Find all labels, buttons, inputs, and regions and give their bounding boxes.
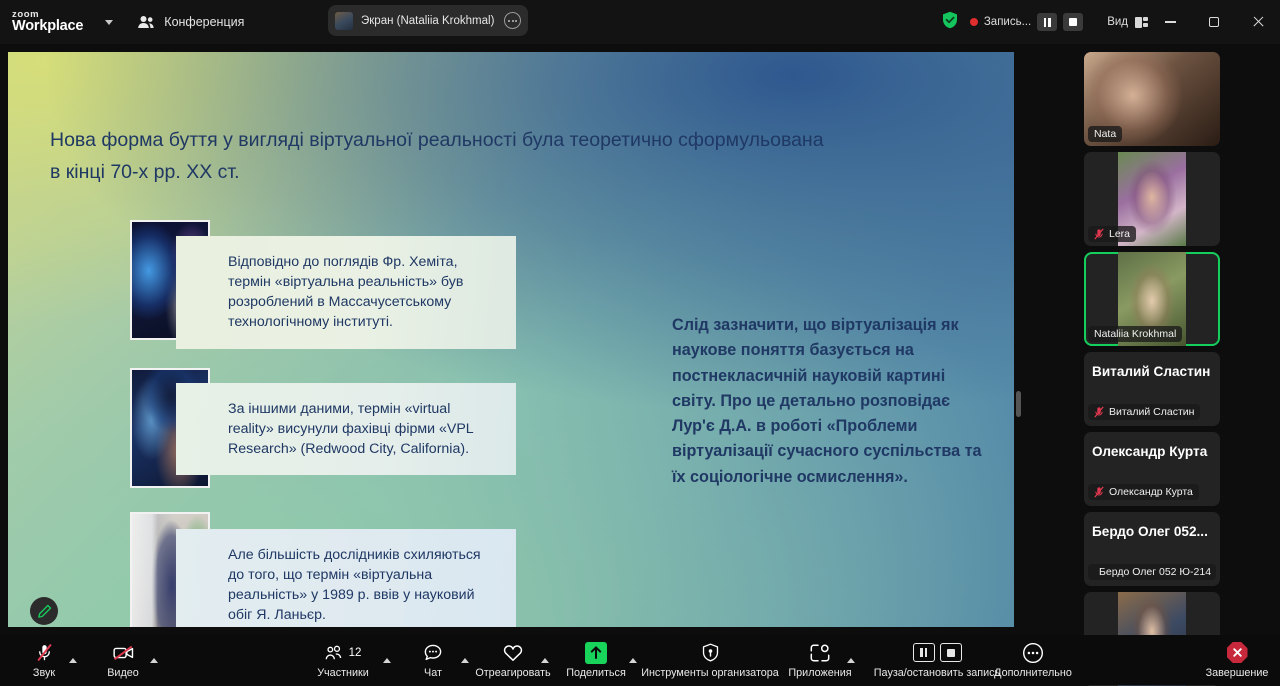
caret-up-icon	[541, 658, 549, 663]
participant-name-text: Виталий Сластин	[1109, 406, 1194, 418]
panel-resize-handle[interactable]	[1016, 391, 1021, 417]
meeting-stage: Нова форма буття у вигляді віртуальної р…	[0, 44, 1280, 635]
participants-count: 12	[349, 647, 362, 659]
toolbar-participants-button[interactable]: 12 Участники	[312, 635, 374, 685]
participant-name-text: Nata	[1094, 128, 1116, 140]
view-label: Вид	[1107, 16, 1128, 28]
toolbar-share-label: Поделиться	[566, 667, 626, 679]
slide-right-paragraph: Слід зазначити, що віртуалізація як наук…	[672, 313, 982, 490]
participant-name-text: Nataliia Krokhmal	[1094, 328, 1176, 340]
participant-name-text: Lera	[1109, 228, 1130, 240]
close-button[interactable]	[1236, 0, 1280, 44]
more-ellipsis-icon	[1022, 642, 1044, 664]
participant-tile-nataliia-krokhmal[interactable]: Nataliia Krokhmal	[1084, 252, 1220, 346]
pause-stop-record-icon	[913, 642, 962, 664]
share-thumbnail	[335, 12, 353, 30]
participant-tile-oleksandr-kurta[interactable]: Олександр Курта Олександр Курта	[1084, 432, 1220, 506]
pencil-icon	[37, 604, 52, 619]
participant-name-text: Олександр Курта	[1109, 486, 1193, 498]
participant-tile-nata[interactable]: Nata	[1084, 52, 1220, 146]
participant-initial-name: Бердо Олег 052...	[1092, 524, 1214, 539]
caret-up-icon	[383, 658, 391, 663]
zoom-workplace-logo: zoom Workplace	[12, 10, 83, 34]
people-icon	[137, 15, 155, 29]
recording-label: Запись...	[984, 16, 1031, 28]
participant-tile-lera[interactable]: Lera	[1084, 152, 1220, 246]
participant-name-label: Олександр Курта	[1088, 484, 1199, 500]
title-bar: zoom Workplace Конференция Экран (Natali…	[0, 0, 1280, 44]
end-meeting-icon	[1227, 642, 1248, 663]
restore-icon	[1209, 17, 1219, 27]
caret-up-icon	[629, 658, 637, 663]
workspace-switcher-button[interactable]	[105, 20, 113, 25]
toolbar-chat-button[interactable]: Чат	[414, 635, 452, 685]
participants-icon	[325, 645, 344, 661]
screen-share-indicator[interactable]: Экран (Nataliia Krokhmal)	[328, 5, 528, 36]
slide-textbox-2: За іншими даними, термін «virtual realit…	[176, 383, 516, 475]
caret-up-icon	[69, 658, 77, 663]
restore-button[interactable]	[1192, 0, 1236, 44]
ellipsis-icon[interactable]	[504, 12, 521, 29]
toolbar-host-tools-label: Инструменты организатора	[641, 667, 779, 679]
layout-icon	[1135, 17, 1148, 28]
video-options-button[interactable]	[143, 635, 165, 685]
meeting-toolbar: Звук Видео 12 Участники	[0, 635, 1280, 685]
microphone-muted-icon	[1094, 486, 1104, 498]
participant-name-label: Nata	[1088, 126, 1122, 142]
annotate-button[interactable]	[30, 597, 58, 625]
meeting-security-button[interactable]	[942, 11, 958, 34]
close-icon	[1252, 16, 1264, 28]
window-controls-group: Запись... Вид	[942, 0, 1280, 44]
participant-initial-name: Олександр Курта	[1092, 444, 1214, 459]
view-selector[interactable]: Вид	[1107, 16, 1148, 28]
toolbar-more-button[interactable]: Дополнительно	[984, 635, 1082, 685]
participant-name-text: Бердо Олег 052 Ю-214	[1099, 566, 1211, 578]
caret-up-icon	[150, 658, 158, 663]
camera-off-icon	[113, 645, 134, 661]
toolbar-audio-label: Звук	[33, 667, 55, 679]
chat-icon	[424, 644, 442, 661]
microphone-muted-icon	[1094, 406, 1104, 418]
brand-workplace-text: Workplace	[12, 19, 83, 34]
chevron-down-icon	[105, 20, 113, 25]
participants-options-button[interactable]	[376, 635, 398, 685]
participant-rail[interactable]: Nata Lera Nataliia Krokhmal Вит	[1084, 52, 1220, 627]
minimize-button[interactable]	[1148, 0, 1192, 44]
toolbar-more-label: Дополнительно	[994, 667, 1072, 679]
share-screen-icon	[585, 642, 607, 664]
toolbar-end-meeting-button[interactable]: Завершение	[1196, 635, 1278, 685]
toolbar-chat-label: Чат	[424, 667, 442, 679]
host-tools-shield-icon	[702, 643, 719, 662]
heart-icon	[503, 644, 523, 662]
stop-recording-button[interactable]	[1063, 13, 1083, 31]
microphone-muted-icon	[35, 643, 54, 662]
participant-name-label: Бердо Олег 052 Ю-214	[1088, 564, 1216, 580]
share-source-label: Экран (Nataliia Krokhmal)	[361, 15, 496, 27]
participant-tile-berdo-oleg[interactable]: Бердо Олег 052... Бердо Олег 052 Ю-214	[1084, 512, 1220, 586]
toolbar-video-label: Видео	[107, 667, 139, 679]
pause-record-button[interactable]	[913, 643, 935, 662]
participant-name-label: Nataliia Krokhmal	[1088, 326, 1182, 342]
participant-name-label: Lera	[1088, 226, 1136, 242]
meeting-tab[interactable]: Конференция	[137, 15, 244, 29]
participant-initial-name: Виталий Сластин	[1092, 364, 1214, 379]
toolbar-audio-button[interactable]: Звук	[22, 635, 66, 685]
minimize-icon	[1165, 21, 1176, 22]
record-dot-icon	[970, 18, 978, 26]
react-options-button[interactable]	[534, 635, 556, 685]
toolbar-share-button[interactable]: Поделиться	[563, 635, 629, 685]
toolbar-host-tools-button[interactable]: Инструменты организатора	[638, 635, 782, 685]
participant-name-label: Виталий Сластин	[1088, 404, 1200, 420]
slide-textbox-1: Відповідно до поглядів Фр. Хеміта, термі…	[176, 236, 516, 349]
slide-textbox-3: Але більшість дослідників схиляються до …	[176, 529, 516, 627]
shared-screen-slide[interactable]: Нова форма буття у вигляді віртуальної р…	[8, 52, 1014, 627]
toolbar-participants-label: Участники	[317, 667, 369, 679]
audio-options-button[interactable]	[62, 635, 84, 685]
pause-recording-button[interactable]	[1037, 13, 1057, 31]
toolbar-record-label: Пауза/остановить запись	[874, 667, 1000, 679]
toolbar-end-label: Завершение	[1206, 667, 1269, 679]
toolbar-video-button[interactable]: Видео	[100, 635, 146, 685]
participant-tile-vitaliy-slastin[interactable]: Виталий Сластин Виталий Сластин	[1084, 352, 1220, 426]
microphone-muted-icon	[1094, 228, 1104, 240]
meeting-tab-label: Конференция	[164, 15, 244, 29]
shield-check-icon	[942, 11, 958, 29]
apps-icon	[810, 644, 830, 662]
slide-title: Нова форма буття у вигляді віртуальної р…	[50, 124, 830, 189]
stop-record-button[interactable]	[940, 643, 962, 662]
recording-status-group[interactable]: Запись...	[970, 13, 1083, 31]
